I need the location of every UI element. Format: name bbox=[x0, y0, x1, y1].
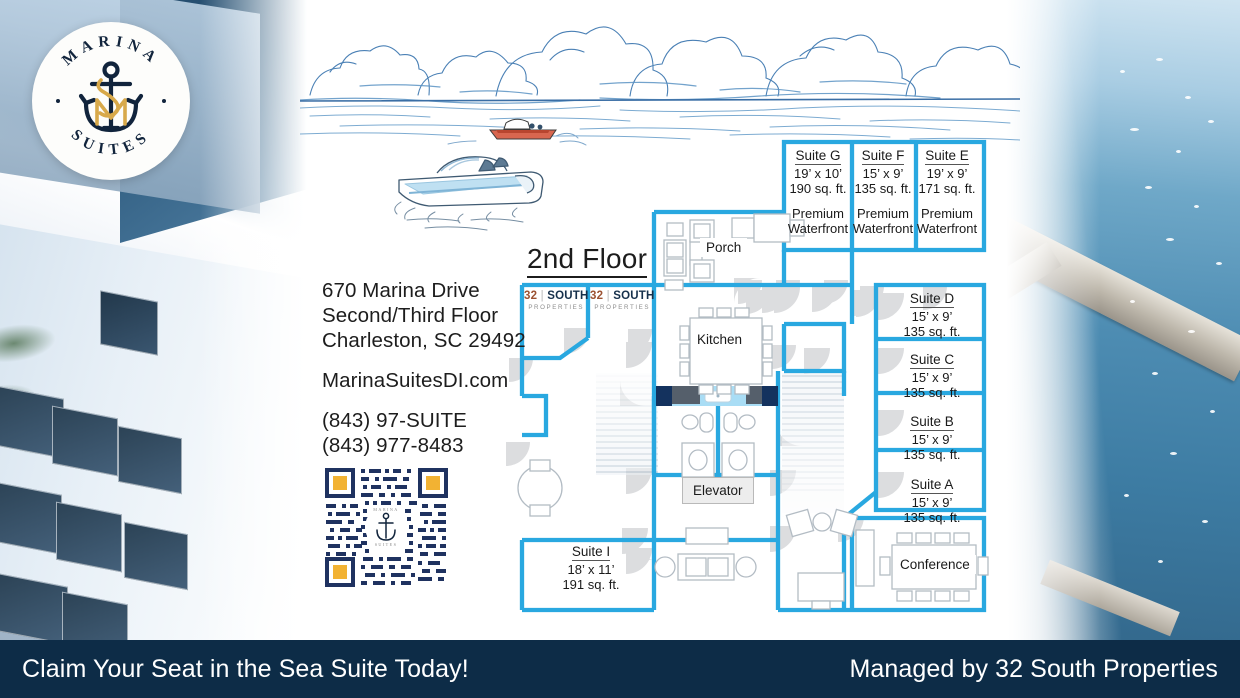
stair-right bbox=[782, 373, 844, 518]
tenant-logo-32south-1: 32 | SOUTH PROPERTIES bbox=[524, 291, 588, 311]
banner-management: Managed by 32 South Properties bbox=[849, 655, 1218, 684]
suite-label-g: Suite G 19’ x 10’ 190 sq. ft. Premium Wa… bbox=[786, 148, 850, 236]
anchor-monogram-icon bbox=[68, 58, 154, 144]
logo-dot-left bbox=[56, 99, 60, 103]
tenant-logo-number: 32 bbox=[524, 290, 537, 302]
address-line-2: Second/Third Floor bbox=[322, 303, 526, 328]
tenant-logo-word: SOUTH bbox=[547, 290, 588, 302]
kitchen-table bbox=[680, 308, 772, 394]
bottom-banner: Claim Your Seat in the Sea Suite Today! … bbox=[0, 640, 1240, 698]
tenant-logo-separator: | bbox=[607, 290, 610, 302]
tenant-logo-separator: | bbox=[541, 290, 544, 302]
suite-label-c: Suite C 15’ x 9’ 135 sq. ft. bbox=[880, 352, 984, 401]
tenant-logo-subtitle: PROPERTIES bbox=[590, 305, 654, 311]
suite-label-i: Suite I 18’ x 11’ 191 sq. ft. bbox=[535, 544, 647, 593]
lobby-seating bbox=[655, 528, 756, 580]
address-line-3: Charleston, SC 29492 bbox=[322, 328, 526, 353]
qr-code[interactable]: MARINA SUITES bbox=[323, 466, 450, 589]
floorplan-title: 2nd Floor bbox=[527, 243, 647, 278]
tenant-logo-word: SOUTH bbox=[613, 290, 654, 302]
room-label-kitchen: Kitchen bbox=[691, 330, 748, 349]
website-link[interactable]: MarinaSuitesDI.com bbox=[322, 368, 526, 393]
room-label-porch: Porch bbox=[700, 238, 747, 257]
svg-text:MARINA: MARINA bbox=[373, 507, 398, 512]
room-label-elevator: Elevator bbox=[682, 477, 754, 504]
tenant-logo-number: 32 bbox=[590, 290, 603, 302]
header-seascape-illustration bbox=[300, 0, 1020, 150]
suite-label-e: Suite E 19’ x 9’ 171 sq. ft. Premium Wat… bbox=[914, 148, 980, 236]
suite-label-f: Suite F 15’ x 9’ 135 sq. ft. Premium Wat… bbox=[851, 148, 915, 236]
address-line-1: 670 Marina Drive bbox=[322, 278, 526, 303]
tenant-logo-32south-2: 32 | SOUTH PROPERTIES bbox=[590, 291, 654, 311]
suite-label-d: Suite D 15’ x 9’ 135 sq. ft. bbox=[880, 291, 984, 340]
logo-dot-right bbox=[162, 99, 166, 103]
photo-window bbox=[0, 481, 62, 555]
room-label-conference: Conference bbox=[894, 555, 976, 574]
suite-label-b: Suite B 15’ x 9’ 135 sq. ft. bbox=[880, 414, 984, 463]
phone-numeric[interactable]: (843) 977-8483 bbox=[322, 433, 526, 458]
round-table bbox=[518, 460, 562, 516]
photo-window bbox=[100, 290, 158, 355]
marina-suites-logo: MARINA SUITES bbox=[32, 22, 190, 180]
tenant-logo-subtitle: PROPERTIES bbox=[524, 305, 588, 311]
svg-text:SUITES: SUITES bbox=[375, 542, 398, 547]
stair-left bbox=[596, 373, 658, 475]
suite-label-a: Suite A 15’ x 9’ 135 sq. ft. bbox=[880, 477, 984, 526]
banner-tagline: Claim Your Seat in the Sea Suite Today! bbox=[22, 655, 469, 684]
marketing-flyer: MARINA SUITES 670 Marin bbox=[0, 0, 1240, 698]
phone-vanity[interactable]: (843) 97-SUITE bbox=[322, 408, 526, 433]
contact-info-block: 670 Marina Drive Second/Third Floor Char… bbox=[322, 278, 526, 458]
